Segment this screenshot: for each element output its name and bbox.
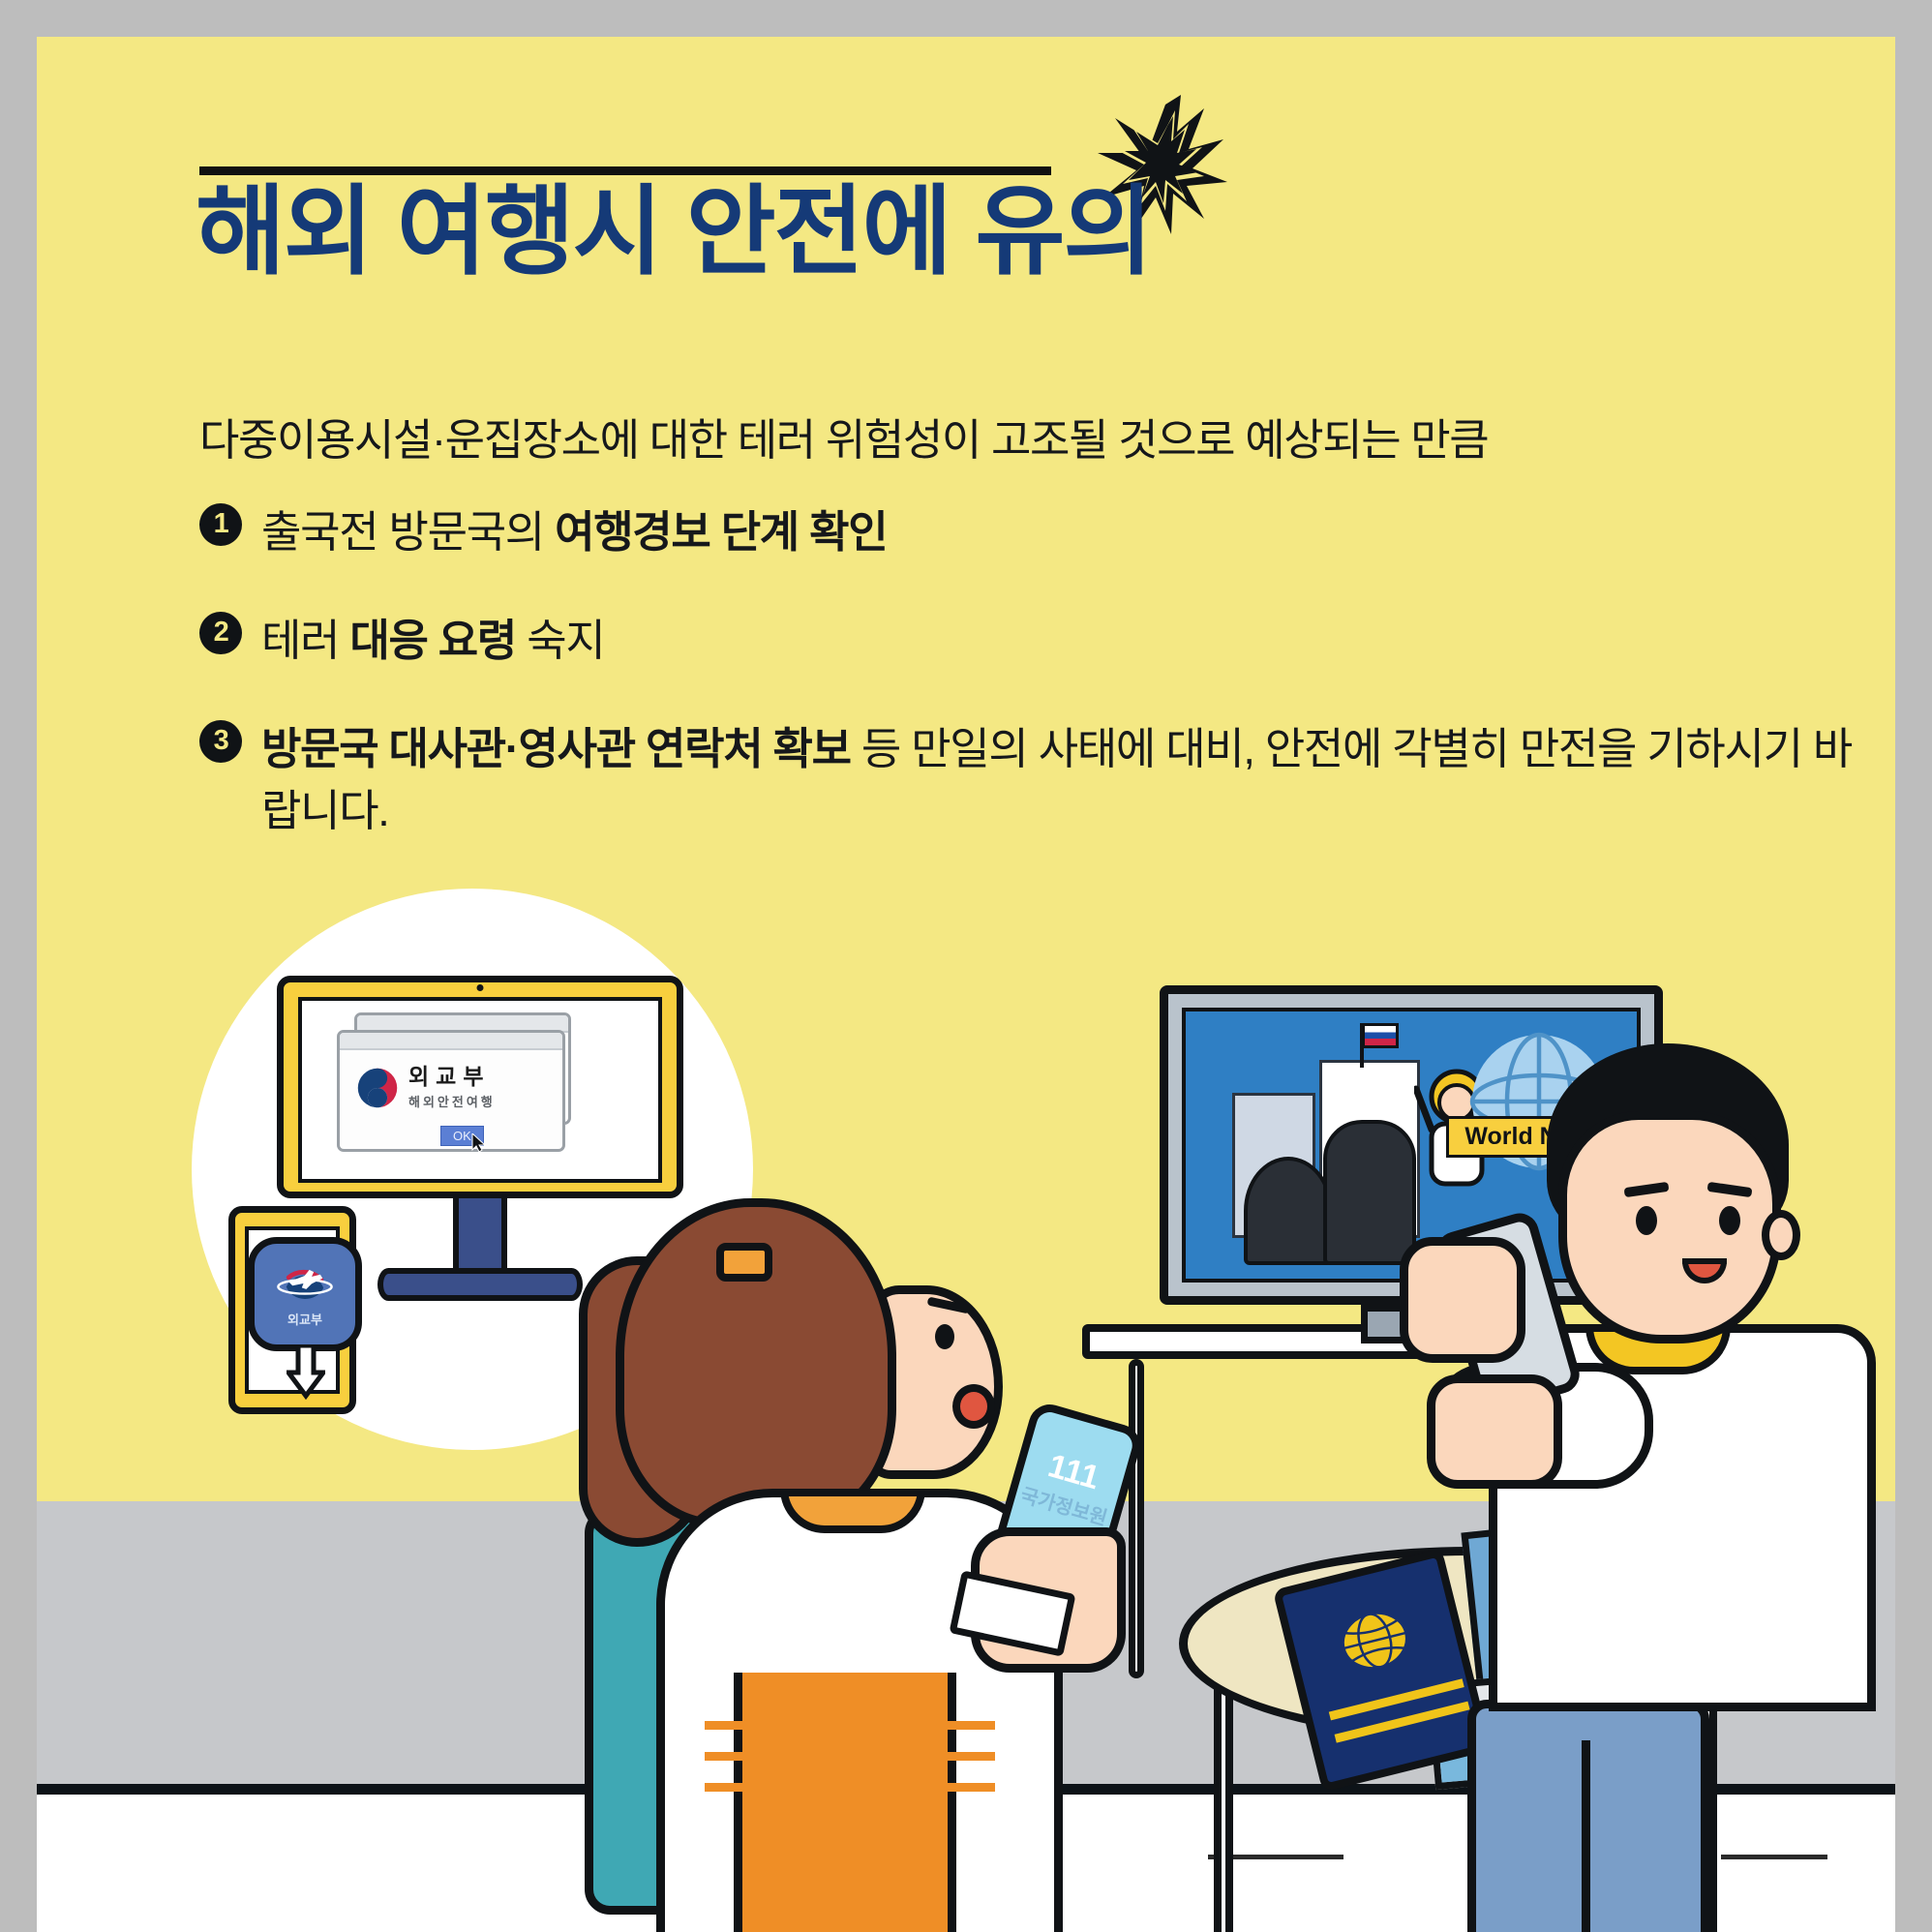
frame-left: [0, 0, 37, 1932]
mofa-wordmark: 외교부 해외안전여행: [408, 1066, 496, 1110]
woman-mouth: [952, 1384, 995, 1429]
monitor-base: [377, 1268, 583, 1301]
globe-emblem-icon: [1334, 1603, 1416, 1678]
bullet-1-pre: 출국전 방문국의: [261, 507, 555, 557]
list-marker-3: 3: [199, 720, 242, 763]
monitor-neck: [453, 1191, 507, 1278]
mofa-app-icon[interactable]: 외교부: [248, 1237, 362, 1351]
frame-right: [1895, 0, 1932, 1932]
boy-eye: [1636, 1206, 1657, 1235]
list-item: 3방문국 대사관·영사관 연락처 확보 등 만일의 사태에 대비, 안전에 각별…: [199, 718, 1864, 842]
armed-officer-icon: [1323, 1120, 1416, 1265]
bullet-3-bold: 방문국 대사관·영사관 연락처 확보: [261, 724, 851, 773]
boy-ear: [1762, 1210, 1800, 1260]
download-arrow-icon: [287, 1345, 325, 1400]
boy-leg-seam: [1582, 1740, 1590, 1932]
boy-face: [1558, 1111, 1781, 1343]
woman-collar: [780, 1489, 925, 1533]
boy-eye: [1719, 1206, 1740, 1235]
room-scene: 해외 여행시 안전에 유의 다중이용시설·운집장소에 대한 테러 위험성이 고조…: [37, 37, 1895, 1932]
boy-hand-upper: [1400, 1237, 1525, 1363]
desktop-monitor: 외교부 해외안전여행 OK: [277, 976, 683, 1198]
frame-top: [0, 0, 1932, 37]
boy-hand-lower: [1427, 1374, 1562, 1489]
bullet-2-bold: 대응 요령: [349, 616, 516, 665]
globe-airplane-icon: [275, 1261, 335, 1308]
flag-icon: [1362, 1023, 1399, 1048]
bullet-2-pre: 테러: [261, 616, 349, 665]
desk-leg-left: [1129, 1359, 1144, 1678]
floor-seam-right: [1721, 1855, 1827, 1859]
mofa-logo: 외교부 해외안전여행: [355, 1066, 496, 1110]
woman-vest: [734, 1673, 956, 1932]
app-icon-label: 외교부: [287, 1310, 322, 1328]
bullet-2-post: 숙지: [516, 616, 604, 665]
infographic-card: 해외 여행시 안전에 유의 다중이용시설·운집장소에 대한 테러 위험성이 고조…: [0, 0, 1932, 1932]
mofa-name: 외교부: [408, 1066, 496, 1088]
list-item: 2테러 대응 요령 숙지: [199, 610, 1864, 672]
bullet-list: 1출국전 방문국의 여행경보 단계 확인 2테러 대응 요령 숙지 3방문국 대…: [199, 501, 1864, 889]
webcam-icon: [477, 984, 484, 991]
monitor-screen: 외교부 해외안전여행 OK: [298, 997, 662, 1183]
woman-hair-tie: [716, 1243, 772, 1282]
woman-sleeve-stripe: [705, 1752, 995, 1761]
dialog-window-front[interactable]: 외교부 해외안전여행 OK: [337, 1030, 565, 1152]
dialog-titlebar: [340, 1033, 562, 1050]
table-leg-left: [1214, 1682, 1233, 1932]
armed-officer-icon: [1244, 1157, 1333, 1265]
woman-eye: [935, 1324, 954, 1349]
title-rule: [199, 166, 1051, 175]
list-item: 1출국전 방문국의 여행경보 단계 확인: [199, 501, 1864, 563]
bullet-1-bold: 여행경보 단계 확인: [555, 507, 887, 557]
woman-sleeve-stripe: [705, 1721, 995, 1730]
list-marker-2: 2: [199, 612, 242, 654]
page-title: 해외 여행시 안전에 유의: [196, 180, 1151, 286]
woman-sleeve-stripe: [705, 1783, 995, 1792]
mouse-pointer-icon: [471, 1133, 487, 1153]
taegeuk-icon: [355, 1066, 400, 1110]
lede-paragraph: 다중이용시설·운집장소에 대한 테러 위험성이 고조될 것으로 예상되는 만큼: [199, 405, 1845, 468]
mofa-tagline: 해외안전여행: [408, 1092, 496, 1110]
list-marker-1: 1: [199, 503, 242, 546]
